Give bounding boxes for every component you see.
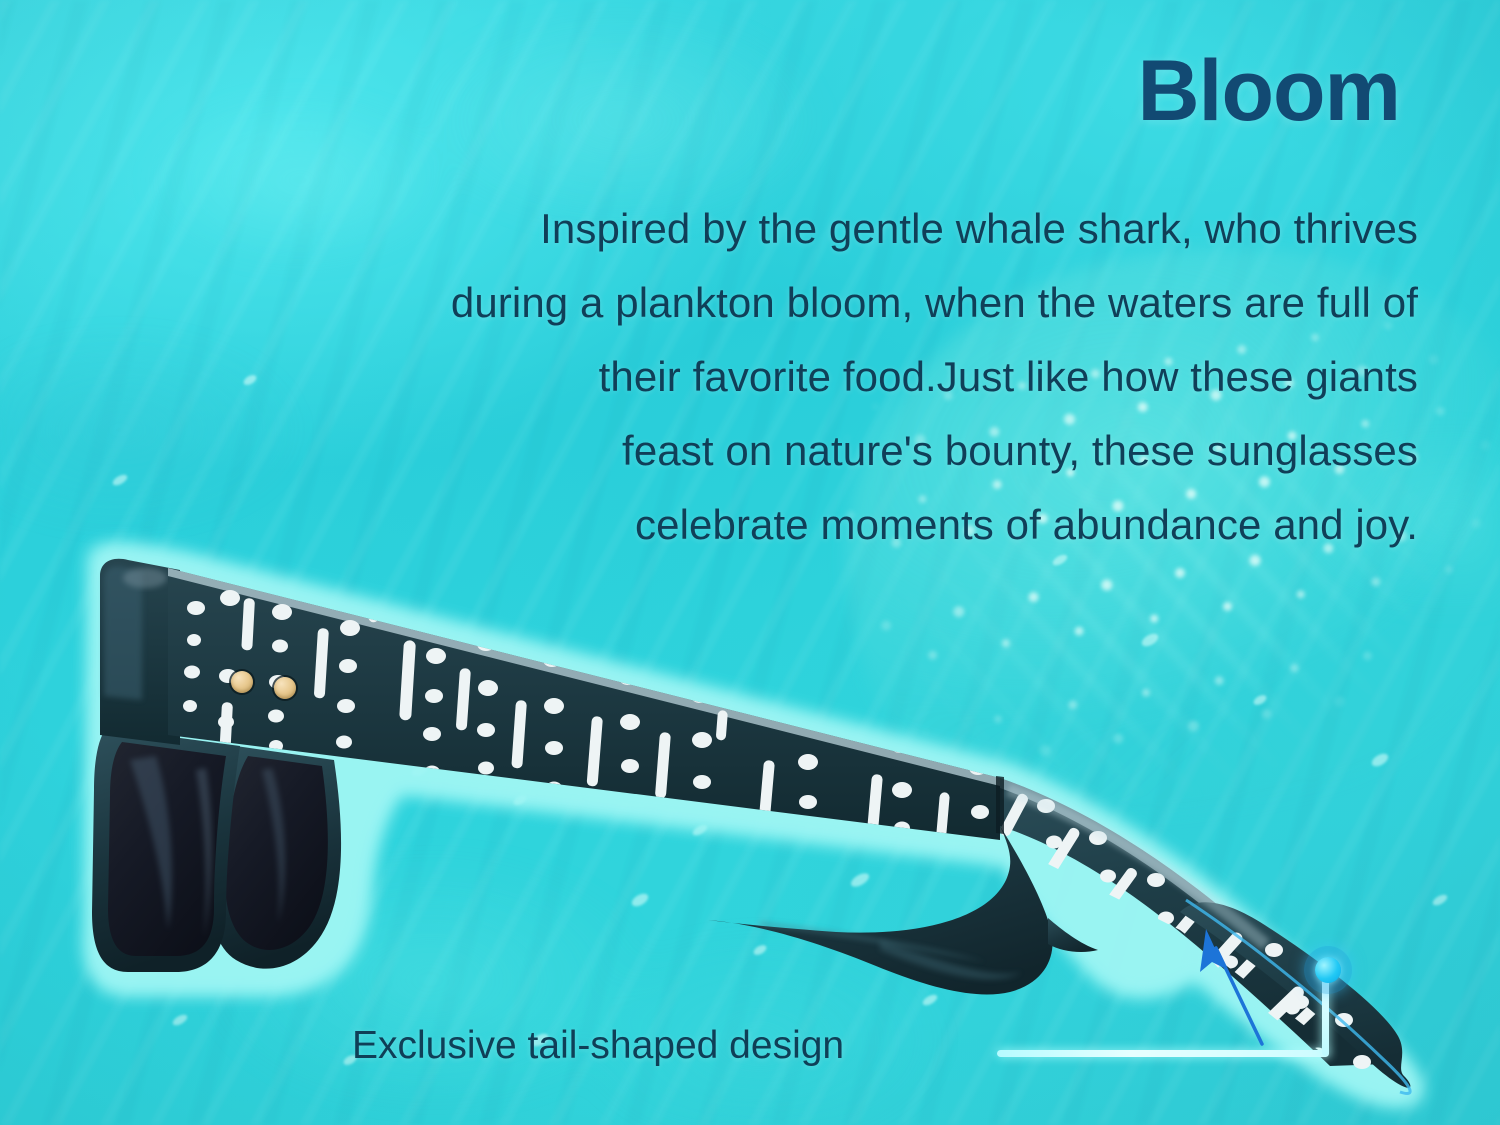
rivet-icon-left [231, 671, 253, 693]
slide-canvas: Bloom Inspired by the gentle whale shark… [0, 0, 1500, 1125]
feature-caption: Exclusive tail-shaped design [352, 1026, 844, 1065]
page-title: Bloom [1137, 48, 1400, 134]
temple-tip [1180, 900, 1410, 1094]
description-line-1: Inspired by the gentle whale shark, who … [378, 192, 1418, 266]
lens-assembly [92, 728, 341, 972]
rivet-icon-right [274, 677, 296, 699]
description-line-5: celebrate moments of abundance and joy. [378, 488, 1418, 562]
description-line-2: during a plankton bloom, when the waters… [378, 266, 1418, 340]
description-line-4: feast on nature's bounty, these sunglass… [378, 414, 1418, 488]
description-paragraph: Inspired by the gentle whale shark, who … [378, 192, 1418, 562]
description-line-3: their favorite food.Just like how these … [378, 340, 1418, 414]
sunglasses-product-image [0, 0, 1500, 1125]
